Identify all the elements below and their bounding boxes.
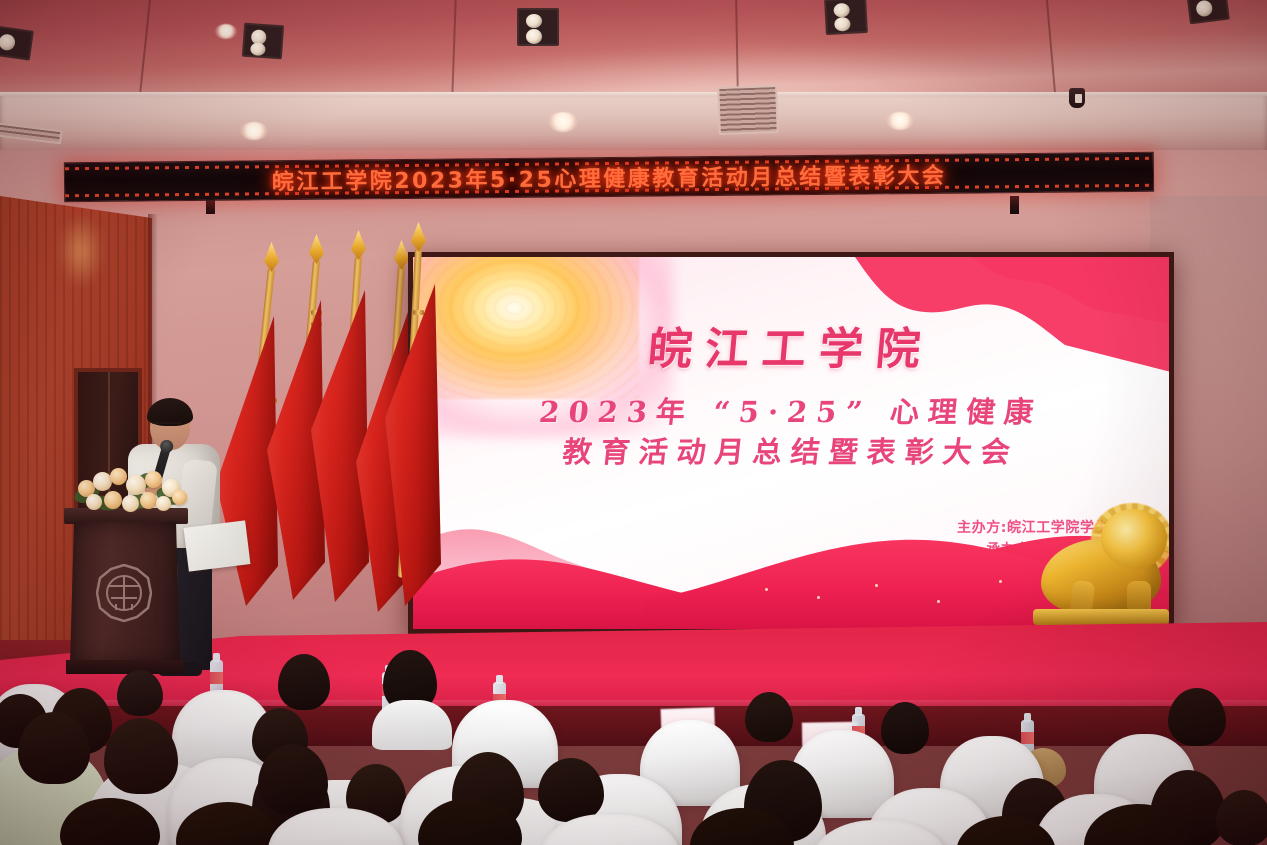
led-banner-text: 皖江工学院2023年5·25心理健康教育活动月总结暨表彰大会 xyxy=(65,156,1153,198)
ceiling-downlight xyxy=(886,112,914,130)
screen-subtitle-line1: 2023年 “5·25” 心理健康 xyxy=(413,389,1169,431)
ceiling-spotlight xyxy=(0,25,34,60)
banner-bracket xyxy=(1010,196,1019,214)
wall-light-glow xyxy=(58,214,104,288)
ceiling-downlight xyxy=(240,122,268,140)
ceiling xyxy=(0,0,1267,150)
ceiling-spotlight xyxy=(1186,0,1230,24)
audience-head xyxy=(1216,790,1267,845)
camera-icon xyxy=(1069,88,1085,108)
audience-shoulder xyxy=(372,700,452,750)
audience-head xyxy=(745,692,793,742)
ceiling-spotlight xyxy=(242,23,284,60)
audience-head xyxy=(881,702,929,754)
ceiling-downlight xyxy=(548,112,578,132)
audience-head xyxy=(538,758,604,822)
speech-paper xyxy=(184,520,251,571)
ceiling-spotlight xyxy=(824,0,868,35)
audience-head xyxy=(117,670,163,716)
flower-arrangement xyxy=(72,458,196,520)
audience-head xyxy=(104,718,178,794)
speaker-glasses xyxy=(152,422,182,430)
screen-title: 皖江工学院 xyxy=(413,313,1169,377)
ceiling-air-vent xyxy=(717,85,779,135)
audience-head xyxy=(258,744,328,814)
ceiling-spotlight xyxy=(517,8,559,46)
guardian-lion-icon xyxy=(1025,493,1169,623)
audience-head xyxy=(278,654,330,710)
audience-head xyxy=(1168,688,1226,746)
auditorium-photo: 皖江工学院2023年5·25心理健康教育活动月总结暨表彰大会 xyxy=(0,0,1267,845)
university-emblem-icon xyxy=(96,564,152,622)
presentation-screen: 皖江工学院 2023年 “5·25” 心理健康 教育活动月总结暨表彰大会 主办方… xyxy=(408,252,1174,634)
audience-area: 杨 李 xyxy=(0,648,1267,845)
ceiling-downlight xyxy=(215,24,237,39)
screen-subtitle-line2: 教育活动月总结暨表彰大会 xyxy=(413,429,1169,471)
